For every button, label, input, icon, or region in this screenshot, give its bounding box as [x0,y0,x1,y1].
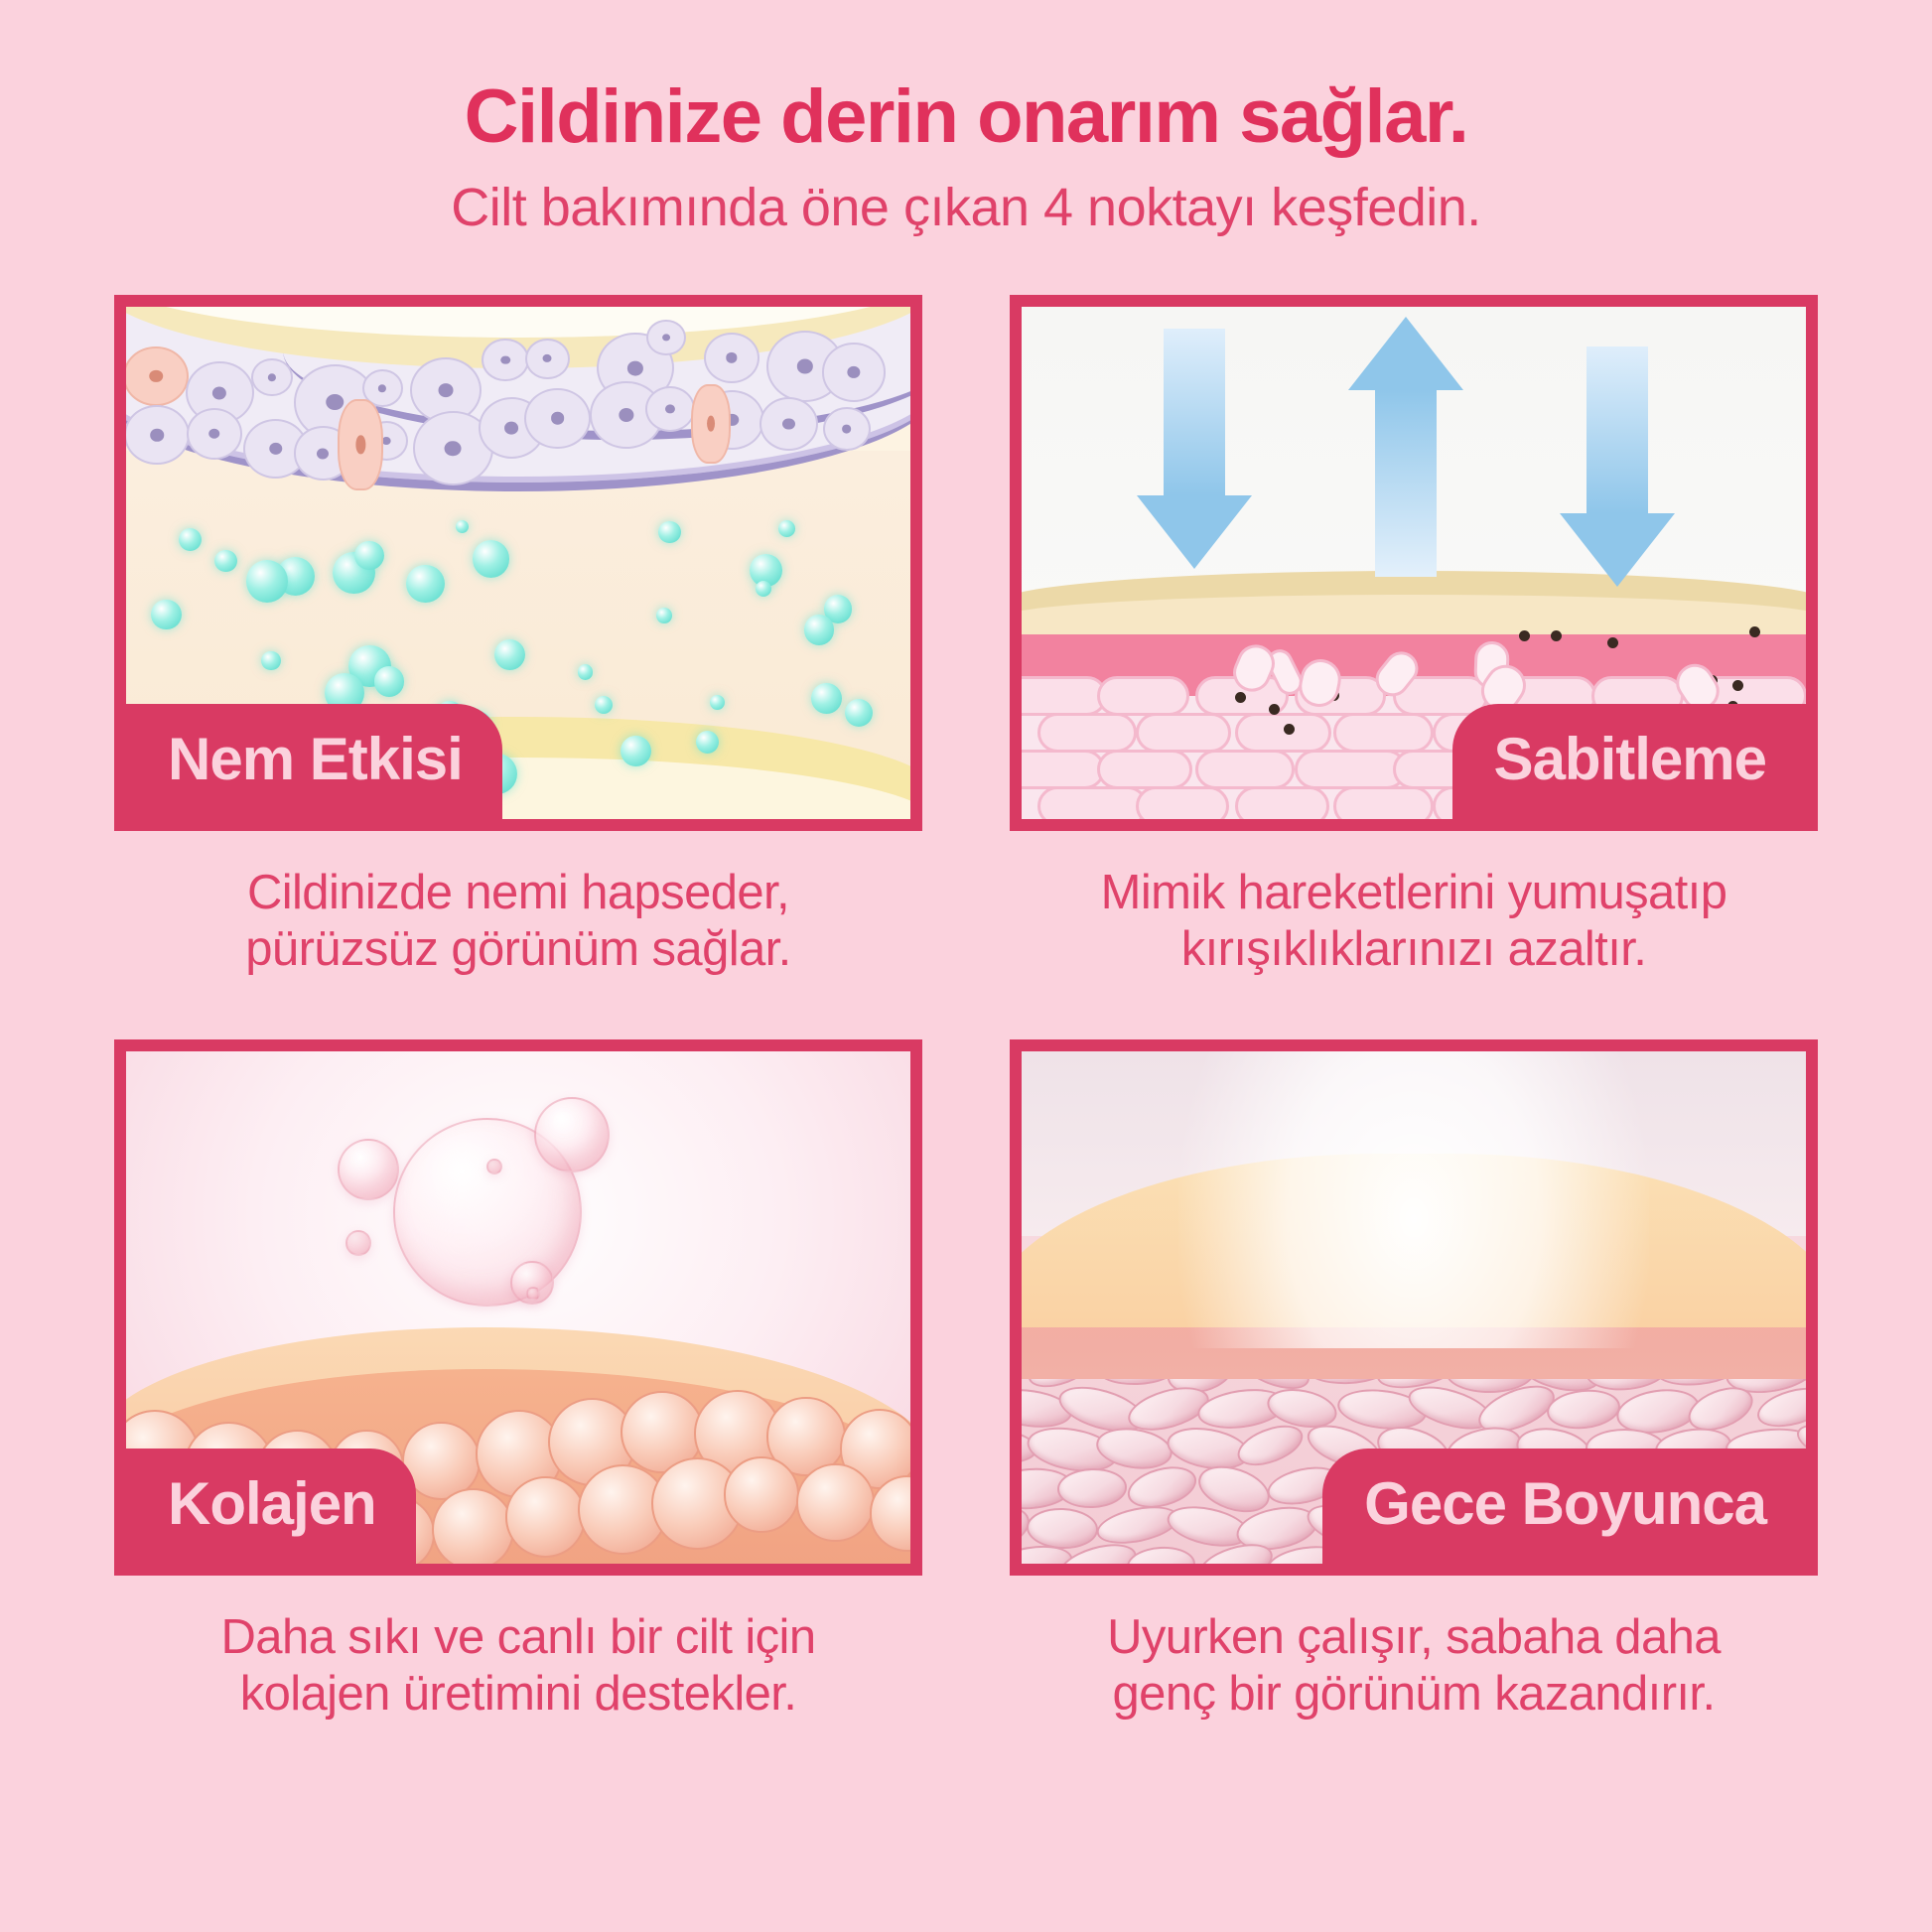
moisture-droplet [179,528,202,551]
caption-line-2: genç bir görünüm kazandırır. [1010,1666,1818,1723]
infographic-page: Cildinize derin onarım sağlar. Cilt bakı… [0,0,1932,1932]
caption-line-2: pürüzsüz görünüm sağlar. [114,921,922,978]
moisture-droplet [778,520,795,537]
epidermal-cell [759,397,818,451]
epidermal-cell [524,388,590,449]
card-caption: Daha sıkı ve canlı bir cilt için kolajen… [114,1609,922,1723]
card-caption: Cildinizde nemi hapseder, pürüzsüz görün… [114,865,922,978]
keratinocyte-brick [1333,786,1433,819]
melanin-dot [1284,724,1295,735]
feature-card-grid: Nem Etkisi Cildinizde nemi hapseder, pür… [0,295,1932,1722]
epidermal-cell [126,405,190,465]
epidermal-cell [525,339,570,379]
epidermal-cell [251,358,292,396]
caption-line-2: kolajen üretimini destekler. [114,1666,922,1723]
card-caption: Uyurken çalışır, sabaha daha genç bir gö… [1010,1609,1818,1723]
feature-card-nem-etkisi[interactable]: Nem Etkisi Cildinizde nemi hapseder, pür… [114,295,922,978]
keratinocyte-brick [1195,750,1294,789]
moisture-droplet [374,666,404,696]
dermal-cell [1126,1545,1196,1564]
epidermal-cell [823,407,871,451]
collagen-sphere [724,1456,800,1533]
card-badge-label: Sabitleme [1452,704,1806,819]
page-subtitle: Cilt bakımında öne çıkan 4 noktayı keşfe… [0,179,1932,237]
keratinocyte-brick [1097,676,1189,716]
moisture-droplet [214,550,237,573]
moisture-droplet [406,565,444,603]
collagen-sphere [796,1463,875,1542]
dermal-cell [1056,1466,1127,1508]
melanin-dot [1749,626,1760,637]
caption-line-1: Daha sıkı ve canlı bir cilt için [114,1609,922,1666]
card-thumbnail: Sabitleme [1010,295,1818,831]
epidermal-cell [645,386,695,432]
feature-card-kolajen[interactable]: Kolajen Daha sıkı ve canlı bir cilt için… [114,1039,922,1723]
caption-line-1: Uyurken çalışır, sabaha daha [1010,1609,1818,1666]
epidermal-cell [126,346,189,406]
keratinocyte-brick [1136,713,1231,753]
keratinocyte-brick [1022,676,1107,716]
caption-line-1: Mimik hareketlerini yumuşatıp [1010,865,1818,921]
keratinocyte-brick [1136,786,1229,819]
moisture-droplet [656,608,672,623]
epidermal-cell [822,343,886,401]
dermal-cell [1545,1386,1622,1432]
moisture-droplet [354,541,384,571]
moisture-droplet [658,521,680,543]
collagen-sphere [505,1476,586,1557]
card-thumbnail: Nem Etkisi [114,295,922,831]
epidermal-cell [646,320,686,355]
feature-card-gece-boyunca[interactable]: Gece Boyunca Uyurken çalışır, sabaha dah… [1010,1039,1818,1723]
keratinocyte-brick [1333,713,1433,753]
caption-line-2: kırışıklıklarınızı azaltır. [1010,921,1818,978]
epidermal-cell [187,408,242,460]
moisture-droplet [261,651,281,671]
keratinocyte-brick [1235,786,1329,819]
header: Cildinize derin onarım sağlar. Cilt bakı… [0,0,1932,237]
collagen-sphere [432,1488,514,1563]
card-thumbnail: Gece Boyunca [1010,1039,1818,1576]
moisture-droplet [151,600,181,629]
moisture-droplet [578,664,593,679]
moisture-droplet [473,540,509,577]
card-caption: Mimik hareketlerini yumuşatıp kırışıklık… [1010,865,1818,978]
page-title: Cildinize derin onarım sağlar. [0,77,1932,157]
moisture-droplet [456,520,469,533]
keratinocyte-brick [1037,786,1148,819]
keratinocyte-brick [1037,713,1137,753]
epidermal-cell [704,333,759,383]
card-badge-label: Gece Boyunca [1322,1449,1806,1564]
epidermal-cell [482,339,528,382]
moisture-droplet [595,696,613,714]
card-badge-label: Kolajen [126,1449,416,1564]
keratinocyte-brick [1295,750,1407,789]
keratinocyte-brick [1235,713,1332,753]
caption-line-1: Cildinizde nemi hapseder, [114,865,922,921]
keratinocyte-brick [1097,750,1192,789]
melanin-dot [1235,692,1246,703]
melanocyte-cell [338,399,383,490]
dermal-cell [1026,1506,1098,1550]
melanin-dot [1551,630,1562,641]
moisture-droplet [804,615,835,645]
moisture-droplet [246,560,289,603]
melanocyte-cell [691,384,731,464]
card-thumbnail: Kolajen [114,1039,922,1576]
keratinocyte-brick [1022,750,1105,789]
feature-card-sabitleme[interactable]: Sabitleme Mimik hareketlerini yumuşatıp … [1010,295,1818,978]
card-badge-label: Nem Etkisi [126,704,502,819]
